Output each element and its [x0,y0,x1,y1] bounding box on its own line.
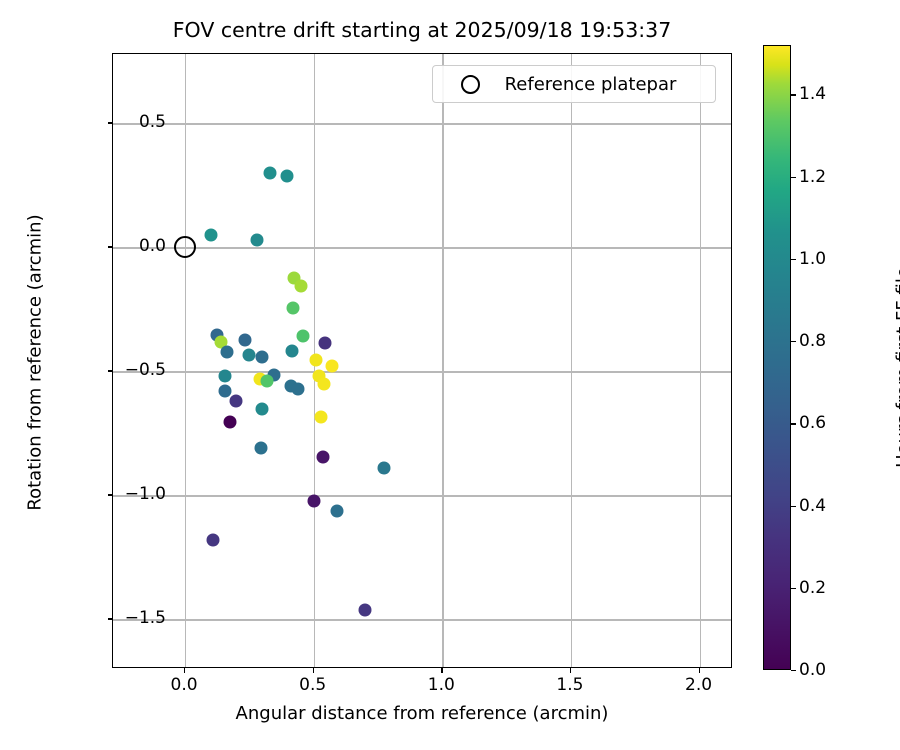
gridline-vertical [442,54,443,667]
scatter-point [287,302,300,315]
scatter-point [317,378,330,391]
y-tick-label: −0.5 [125,360,166,380]
scatter-point [316,450,329,463]
colorbar-label: Hours from first FF file [893,55,900,680]
colorbar-tick-label: 1.0 [799,249,826,269]
x-tick-mark [313,668,314,673]
colorbar-tick-label: 0.4 [799,496,826,516]
colorbar-tick-label: 0.0 [799,660,826,680]
y-tick-label: 0.0 [139,236,166,256]
x-tick-label: 1.0 [428,675,455,695]
scatter-point [292,382,305,395]
legend: Reference platepar [432,65,716,103]
x-tick-mark [441,668,442,673]
colorbar-tick-mark [791,259,796,260]
colorbar-tick-mark [791,670,796,671]
colorbar-tick-label: 0.2 [799,578,826,598]
scatter-point [330,504,343,517]
scatter-point [251,233,264,246]
y-tick-mark [108,618,113,619]
colorbar-tick-mark [791,341,796,342]
figure-canvas: FOV centre drift starting at 2025/09/18 … [0,0,900,750]
scatter-point [256,350,269,363]
scatter-point [378,462,391,475]
scatter-point [280,170,293,183]
x-tick-mark [570,668,571,673]
colorbar-tick-label: 0.8 [799,331,826,351]
colorbar-tick-mark [791,177,796,178]
page-title: FOV centre drift starting at 2025/09/18 … [112,18,732,42]
scatter-point [230,395,243,408]
y-tick-mark [108,494,113,495]
y-tick-mark [108,122,113,123]
gridline-horizontal [113,123,731,124]
colorbar-tick-mark [791,506,796,507]
scatter-point [224,416,237,429]
x-tick-mark [184,668,185,673]
gridline-vertical [571,54,572,667]
y-tick-label: 0.5 [139,112,166,132]
scatter-point [325,360,338,373]
x-tick-label: 0.0 [171,675,198,695]
scatter-point [285,345,298,358]
colorbar-tick-mark [791,423,796,424]
scatter-point [297,330,310,343]
scatter-point [207,534,220,547]
scatter-point [218,385,231,398]
gridline-vertical [185,54,186,667]
y-tick-mark [108,370,113,371]
x-tick-label: 1.5 [556,675,583,695]
reference-platepar-marker-icon [461,75,480,94]
gridline-horizontal [113,495,731,496]
colorbar [763,45,791,670]
colorbar-tick-label: 0.6 [799,413,826,433]
x-tick-label: 0.5 [299,675,326,695]
scatter-point [221,346,234,359]
colorbar-tick-label: 1.4 [799,84,826,104]
y-tick-label: −1.5 [125,608,166,628]
colorbar-tick-label: 1.2 [799,167,826,187]
plot-area [112,53,732,668]
x-tick-mark [699,668,700,673]
scatter-point [359,603,372,616]
scatter-point [218,370,231,383]
scatter-point [307,494,320,507]
legend-label-reference-platepar: Reference platepar [480,74,701,95]
gridline-horizontal [113,247,731,248]
scatter-point [261,375,274,388]
scatter-point [315,411,328,424]
y-tick-label: −1.0 [125,484,166,504]
colorbar-tick-mark [791,94,796,95]
reference-platepar-point [174,236,196,258]
scatter-point [310,354,323,367]
x-axis-label: Angular distance from reference (arcmin) [112,703,732,724]
scatter-point [263,167,276,180]
scatter-point [254,441,267,454]
colorbar-tick-mark [791,588,796,589]
x-tick-label: 2.0 [685,675,712,695]
scatter-point [243,348,256,361]
gridline-vertical [700,54,701,667]
gridline-horizontal [113,371,731,372]
gridline-horizontal [113,619,731,620]
scatter-point [204,229,217,242]
scatter-point [294,279,307,292]
y-axis-label: Rotation from reference (arcmin) [25,53,46,673]
y-tick-mark [108,246,113,247]
scatter-point [256,402,269,415]
scatter-point [319,336,332,349]
scatter-point [239,333,252,346]
